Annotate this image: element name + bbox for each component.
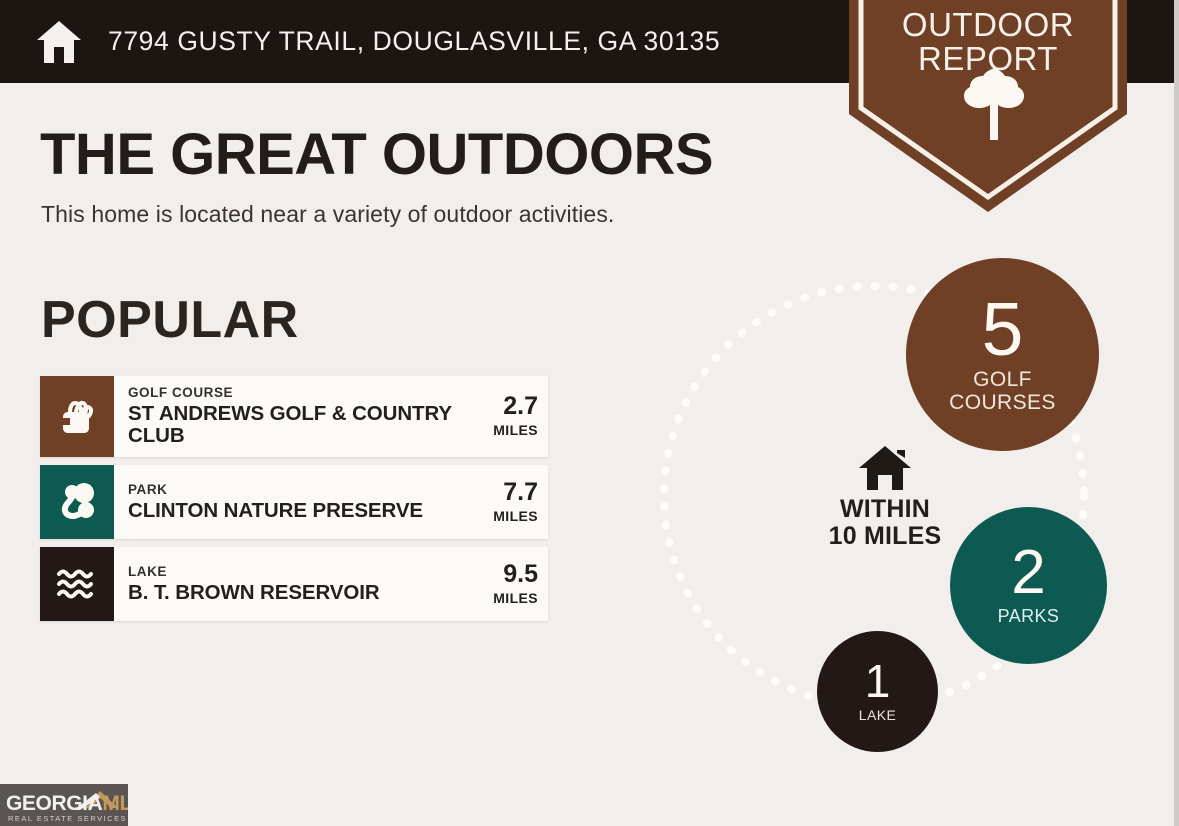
watermark-brand: GEORGIAMLS xyxy=(6,793,128,814)
distance-unit: MILES xyxy=(493,590,538,606)
bubble-label: LAKE xyxy=(859,708,896,723)
list-item[interactable]: GOLF COURSE ST ANDREWS GOLF & COUNTRY CL… xyxy=(40,376,548,457)
bubble-label-line1: GOLF xyxy=(949,369,1056,392)
park-trees-icon xyxy=(40,465,114,539)
list-item-name: B. T. BROWN RESERVOIR xyxy=(128,582,460,605)
within-line2: 10 MILES xyxy=(795,523,975,550)
bubble-count: 2 xyxy=(1011,544,1045,603)
distance-value: 2.7 xyxy=(503,394,538,419)
page-title: THE GREAT OUTDOORS xyxy=(40,126,713,184)
list-item-category: LAKE xyxy=(128,564,460,581)
distance-value: 7.7 xyxy=(503,480,538,505)
right-edge-strip xyxy=(1174,0,1179,826)
amenities-diagram: WITHIN 10 MILES 5 GOLF COURSES 2 PARKS 1… xyxy=(606,236,1179,796)
watermark-brand-primary: GEORGIA xyxy=(6,792,102,815)
watermark-brand-secondary: MLS xyxy=(102,792,128,815)
water-waves-icon xyxy=(40,547,114,621)
watermark-tagline: REAL ESTATE SERVICES xyxy=(8,814,127,823)
list-item[interactable]: LAKE B. T. BROWN RESERVOIR 9.5 MILES xyxy=(40,547,548,621)
page-subtitle: This home is located near a variety of o… xyxy=(41,201,614,228)
property-address: 7794 GUSTY TRAIL, DOUGLASVILLE, GA 30135 xyxy=(108,26,720,57)
list-item-name: ST ANDREWS GOLF & COUNTRY CLUB xyxy=(128,403,460,448)
bubble-label: GOLF COURSES xyxy=(949,369,1056,414)
list-item-category: GOLF COURSE xyxy=(128,385,460,402)
badge-title: OUTDOOR REPORT xyxy=(849,8,1127,77)
list-item-distance: 2.7 MILES xyxy=(466,376,548,457)
count-bubble-parks[interactable]: 2 PARKS xyxy=(950,507,1107,664)
bubble-label-line2: COURSES xyxy=(949,392,1056,415)
bubble-count: 1 xyxy=(865,660,891,704)
list-item-distance: 7.7 MILES xyxy=(466,465,548,539)
home-icon xyxy=(858,444,912,492)
within-radius-label: WITHIN 10 MILES xyxy=(795,444,975,550)
distance-unit: MILES xyxy=(493,422,538,438)
list-item-category: PARK xyxy=(128,482,460,499)
distance-value: 9.5 xyxy=(503,562,538,587)
home-icon xyxy=(36,20,82,64)
bubble-count: 5 xyxy=(982,294,1024,365)
outdoor-report-badge: OUTDOOR REPORT xyxy=(849,0,1127,212)
popular-places-list: GOLF COURSE ST ANDREWS GOLF & COUNTRY CL… xyxy=(40,376,548,629)
badge-title-line1: OUTDOOR xyxy=(849,8,1127,42)
list-item-distance: 9.5 MILES xyxy=(466,547,548,621)
georgia-mls-watermark: GEORGIAMLS REAL ESTATE SERVICES xyxy=(0,784,128,826)
within-line1: WITHIN xyxy=(795,496,975,523)
list-item-name: CLINTON NATURE PRESERVE xyxy=(128,500,460,523)
section-heading-popular: POPULAR xyxy=(41,294,299,346)
golf-bag-icon xyxy=(40,376,114,457)
distance-unit: MILES xyxy=(493,508,538,524)
bubble-label: PARKS xyxy=(998,607,1060,626)
count-bubble-golf-courses[interactable]: 5 GOLF COURSES xyxy=(906,258,1099,451)
badge-title-line2: REPORT xyxy=(849,42,1127,76)
count-bubble-lake[interactable]: 1 LAKE xyxy=(817,631,938,752)
list-item[interactable]: PARK CLINTON NATURE PRESERVE 7.7 MILES xyxy=(40,465,548,539)
